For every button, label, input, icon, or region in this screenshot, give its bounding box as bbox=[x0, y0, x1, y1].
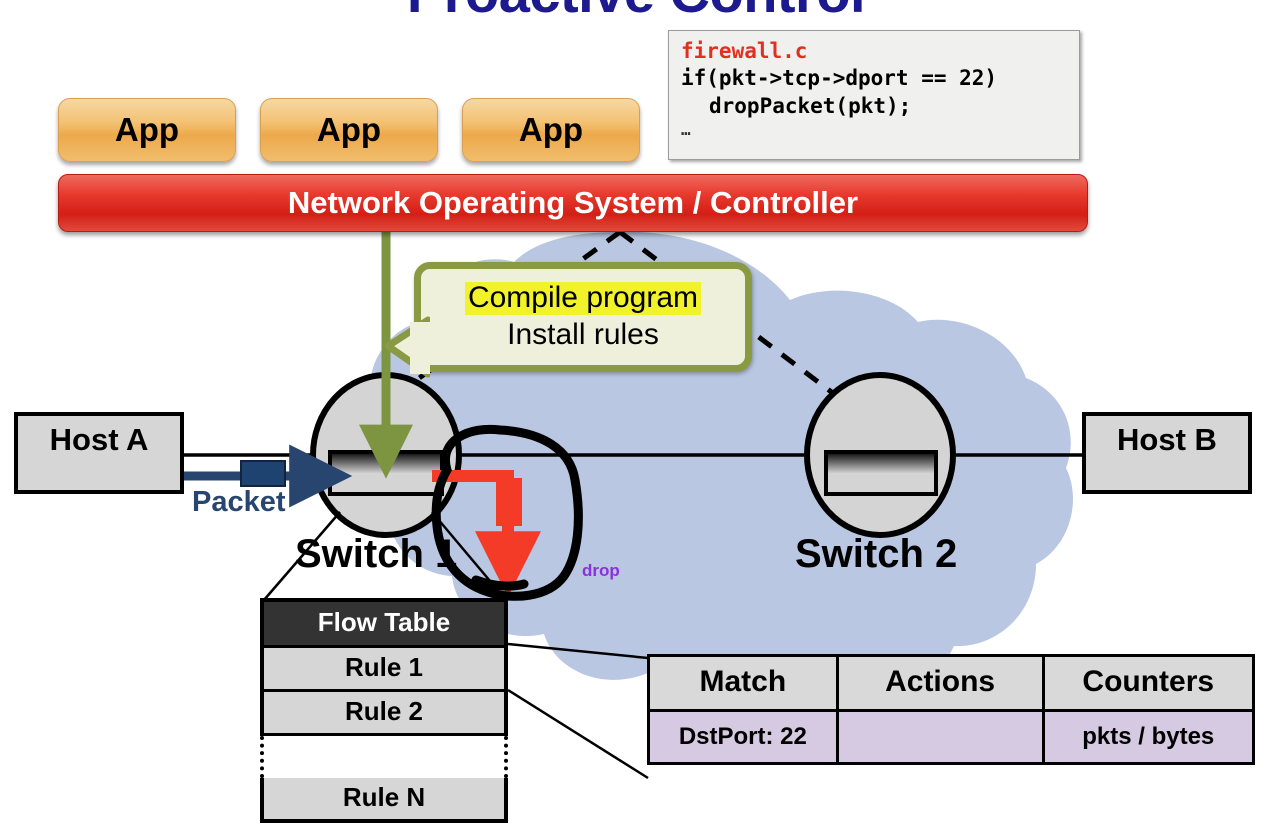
app-box-3[interactable]: App bbox=[462, 98, 640, 162]
host-b-box: Host B bbox=[1082, 412, 1252, 494]
code-line-2: dropPacket(pkt); bbox=[681, 93, 1067, 120]
column-header-actions: Actions bbox=[837, 656, 1043, 711]
code-line-3: … bbox=[681, 120, 1067, 141]
column-header-counters: Counters bbox=[1043, 656, 1253, 711]
cell-match: DstPort: 22 bbox=[649, 711, 838, 764]
app-box-1[interactable]: App bbox=[58, 98, 236, 162]
switch1-node bbox=[313, 375, 459, 535]
flow-table-header: Flow Table bbox=[264, 598, 504, 648]
switch1-label: Switch 1 bbox=[295, 532, 457, 577]
compile-install-callout: Compile program Install rules bbox=[414, 262, 752, 372]
host-a-box: Host A bbox=[14, 412, 184, 494]
flow-table-row-rule1[interactable]: Rule 1 bbox=[264, 648, 504, 692]
flow-table-ellipsis-gap bbox=[260, 736, 508, 778]
callout-tail bbox=[380, 316, 430, 382]
switch2-label: Switch 2 bbox=[795, 532, 957, 577]
match-actions-counters-table: Match Actions Counters DstPort: 22 pkts … bbox=[647, 654, 1255, 765]
cell-actions bbox=[837, 711, 1043, 764]
table-header-row: Match Actions Counters bbox=[649, 656, 1254, 711]
code-snippet-box: firewall.c if(pkt->tcp->dport == 22) dro… bbox=[668, 30, 1080, 160]
handdrawn-highlight-loop bbox=[436, 429, 578, 596]
app-box-2[interactable]: App bbox=[260, 98, 438, 162]
flow-table: Flow Table Rule 1 Rule 2 Rule N bbox=[260, 598, 508, 823]
cell-counters: pkts / bytes bbox=[1043, 711, 1253, 764]
page-title: Proactive Control bbox=[0, 0, 1272, 25]
flow-table-row-rule2[interactable]: Rule 2 bbox=[264, 692, 504, 736]
network-operating-system-bar[interactable]: Network Operating System / Controller bbox=[58, 174, 1088, 232]
table-row: DstPort: 22 pkts / bytes bbox=[649, 711, 1254, 764]
column-header-match: Match bbox=[649, 656, 838, 711]
code-line-1: if(pkt->tcp->dport == 22) bbox=[681, 65, 1067, 92]
slide-canvas: Proactive Control firewall.c if(pkt->tcp… bbox=[0, 0, 1272, 832]
callout-line-1: Compile program bbox=[465, 282, 701, 314]
code-filename: firewall.c bbox=[681, 38, 1067, 65]
switch2-node bbox=[807, 375, 953, 535]
flow-table-row-rulen[interactable]: Rule N bbox=[264, 778, 504, 823]
packet-label: Packet bbox=[192, 486, 286, 519]
callout-line-2: Install rules bbox=[507, 317, 659, 352]
drop-label: drop bbox=[582, 561, 620, 581]
matchtable-leader-lines bbox=[508, 644, 648, 778]
